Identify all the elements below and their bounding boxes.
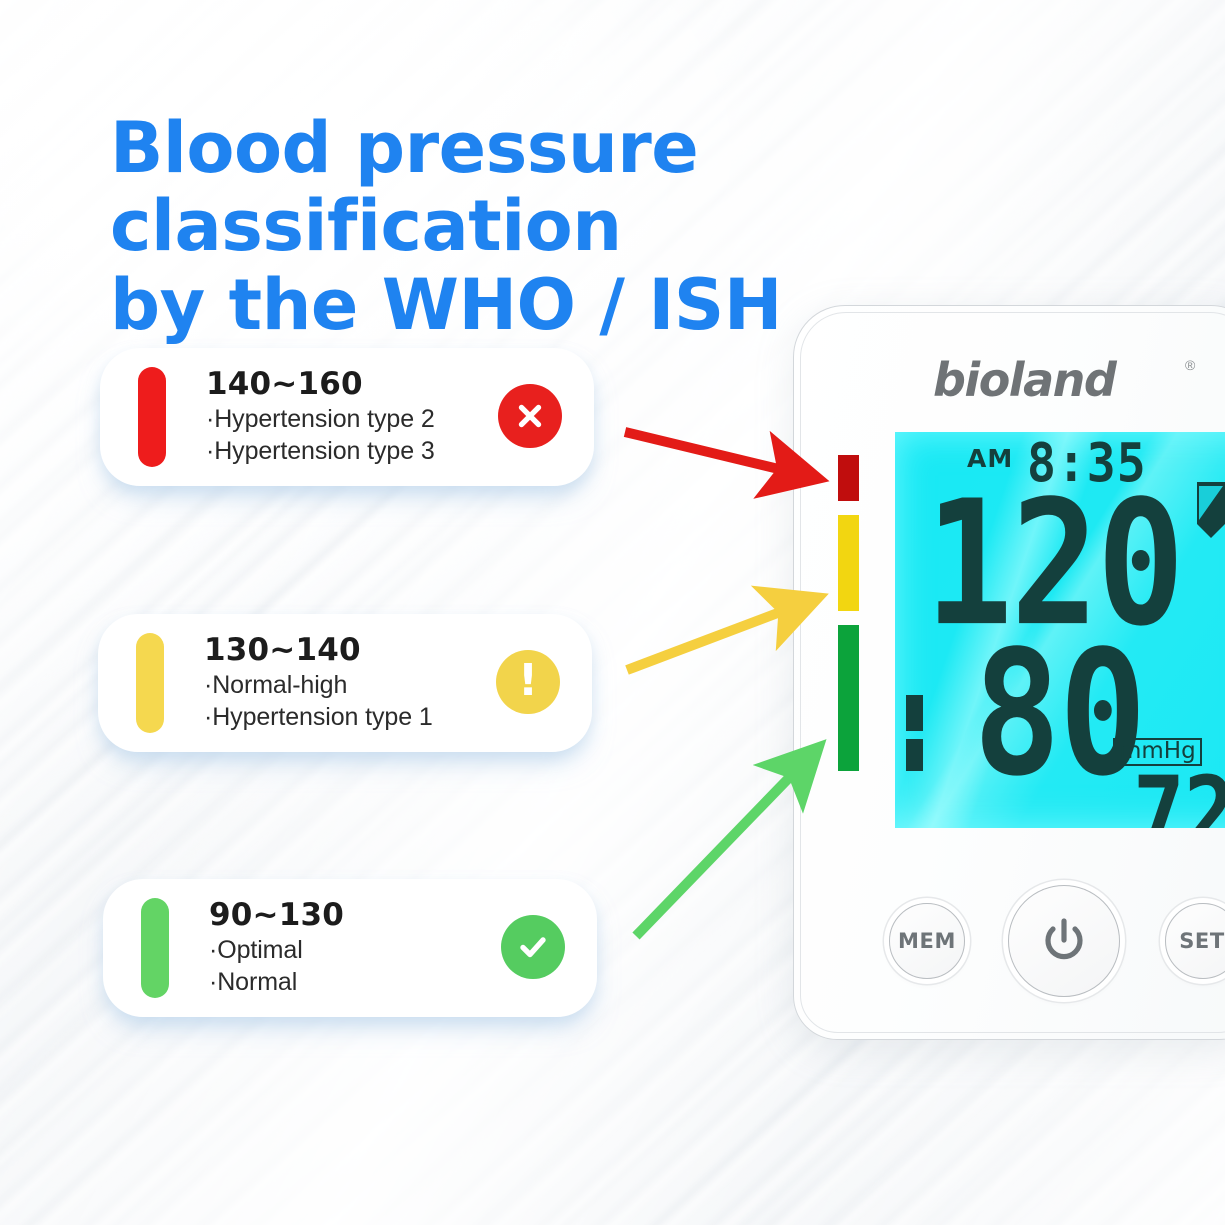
card-text-block: 140~160 ·Hypertension type 2 ·Hypertensi… <box>206 366 494 467</box>
card-detail-line-2: ·Hypertension type 1 <box>204 701 492 733</box>
card-detail-line-2: ·Hypertension type 3 <box>206 435 494 467</box>
classification-card-optimal-normal: 90~130 ·Optimal ·Normal <box>103 879 597 1017</box>
lcd-display: AM 8:35 120 80 mmHg 72 1 <box>895 432 1225 828</box>
card-range-value: 90~130 <box>209 897 497 934</box>
card-detail-line-2: ·Normal <box>209 966 497 998</box>
card-color-bar <box>138 367 166 467</box>
card-detail-line-1: ·Hypertension type 2 <box>206 403 494 435</box>
lcd-pulse-value: 72 <box>1133 764 1225 828</box>
device-indicator-bar-red <box>838 455 859 501</box>
card-detail-line-1: ·Optimal <box>209 934 497 966</box>
card-detail-line-1: ·Normal-high <box>204 669 492 701</box>
classification-card-normal-high: 130~140 ·Normal-high ·Hypertension type … <box>98 614 592 752</box>
blood-pressure-monitor-device: bioland ® AM 8:35 120 80 mmHg 72 <box>793 305 1225 1040</box>
card-color-bar <box>141 898 169 998</box>
exclamation-circle-icon: ! <box>496 650 560 714</box>
card-text-block: 90~130 ·Optimal ·Normal <box>209 897 497 998</box>
mem-button[interactable]: MEM <box>889 903 965 979</box>
device-indicator-bar-yellow <box>838 515 859 611</box>
power-icon <box>1037 914 1091 968</box>
registered-trademark-symbol: ® <box>1185 357 1195 373</box>
check-circle-icon <box>501 915 565 979</box>
lcd-diastolic-value: 80 <box>973 628 1145 800</box>
lcd-classification-tick-lower <box>906 739 923 771</box>
infographic-canvas: Blood pressure classification by the WHO… <box>0 0 1225 1225</box>
exclamation-glyph: ! <box>518 659 538 703</box>
lcd-classification-tick-upper <box>906 695 923 731</box>
card-range-value: 140~160 <box>206 366 494 403</box>
page-title-line-1: Blood pressure classification <box>110 107 698 267</box>
device-indicator-bar-green <box>838 625 859 771</box>
power-button[interactable] <box>1008 885 1120 997</box>
card-color-bar <box>136 633 164 733</box>
cross-circle-icon <box>498 384 562 448</box>
mem-button-label: MEM <box>898 929 956 953</box>
card-range-value: 130~140 <box>204 632 492 669</box>
lcd-heartbeat-arrow-icon <box>1195 480 1225 542</box>
brand-logo: bioland <box>933 353 1115 407</box>
set-button-label: SET <box>1179 929 1225 953</box>
classification-card-hypertension-2-3: 140~160 ·Hypertension type 2 ·Hypertensi… <box>100 348 594 486</box>
card-text-block: 130~140 ·Normal-high ·Hypertension type … <box>204 632 492 733</box>
